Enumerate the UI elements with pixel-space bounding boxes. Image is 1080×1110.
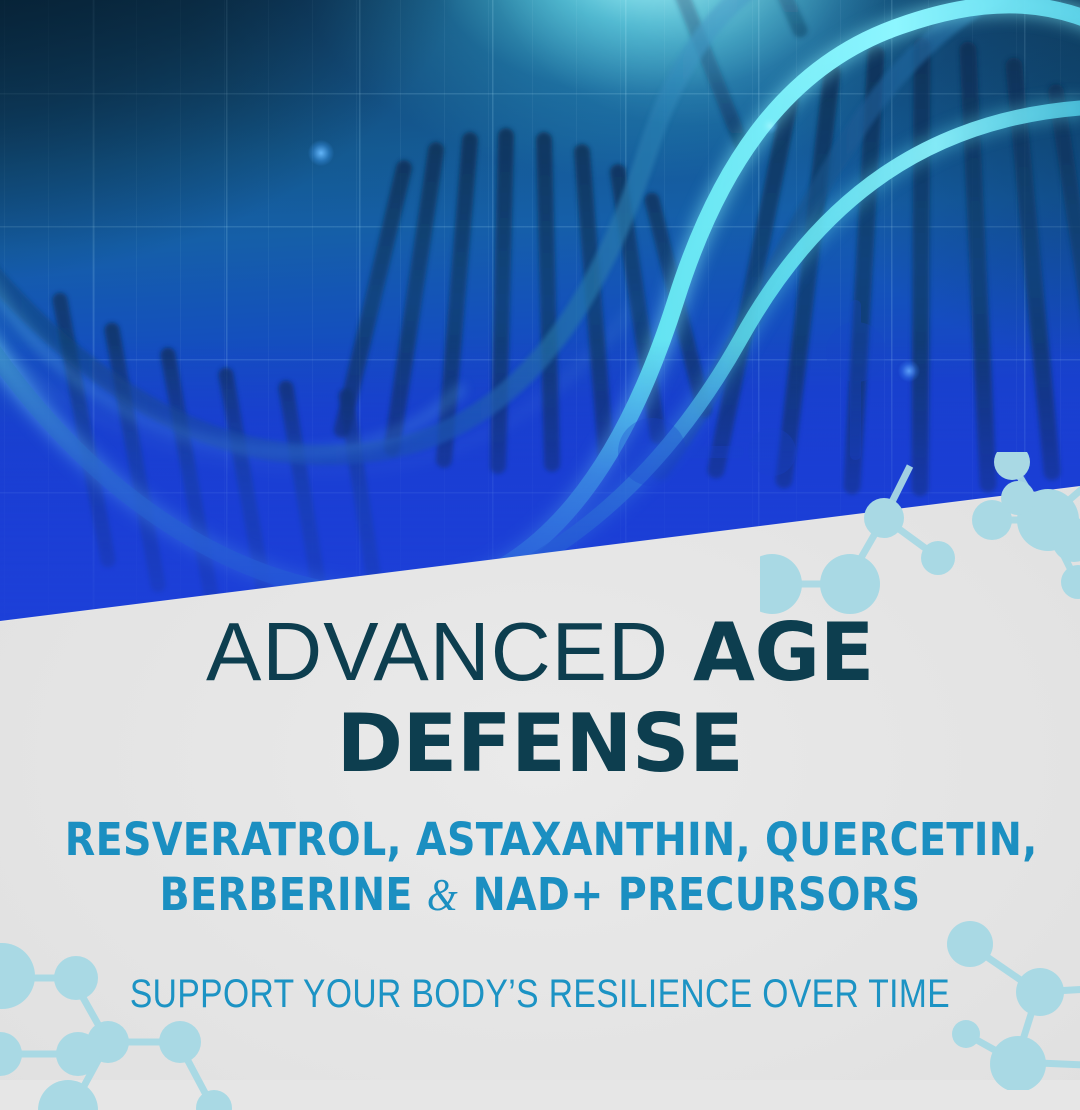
page-title: ADVANCED AGE DEFENSE [0, 612, 1080, 782]
title-line-1: ADVANCED AGE [0, 612, 1080, 693]
ingredient-nad-precursors: NAD+ PRECURSORS [473, 868, 921, 921]
title-advanced: ADVANCED [206, 605, 669, 698]
ampersand: & [427, 870, 459, 920]
ingredient-berberine: BERBERINE [160, 868, 413, 921]
lens-flare-dot-1 [308, 140, 334, 166]
ingredients-line-2: BERBERINE & NAD+ PRECURSORS [65, 867, 1015, 923]
title-age: AGE [693, 606, 874, 699]
ingredients-line-1: RESVERATROL, ASTAXANTHIN, QUERCETIN, [65, 812, 1015, 867]
lens-flare-dot-3 [762, 118, 778, 134]
ingredients-list: RESVERATROL, ASTAXANTHIN, QUERCETIN, BER… [65, 812, 1015, 924]
title-defense: DEFENSE [0, 705, 1080, 783]
tagline: SUPPORT YOUR BODY’S RESILIENCE OVER TIME [86, 972, 993, 1017]
